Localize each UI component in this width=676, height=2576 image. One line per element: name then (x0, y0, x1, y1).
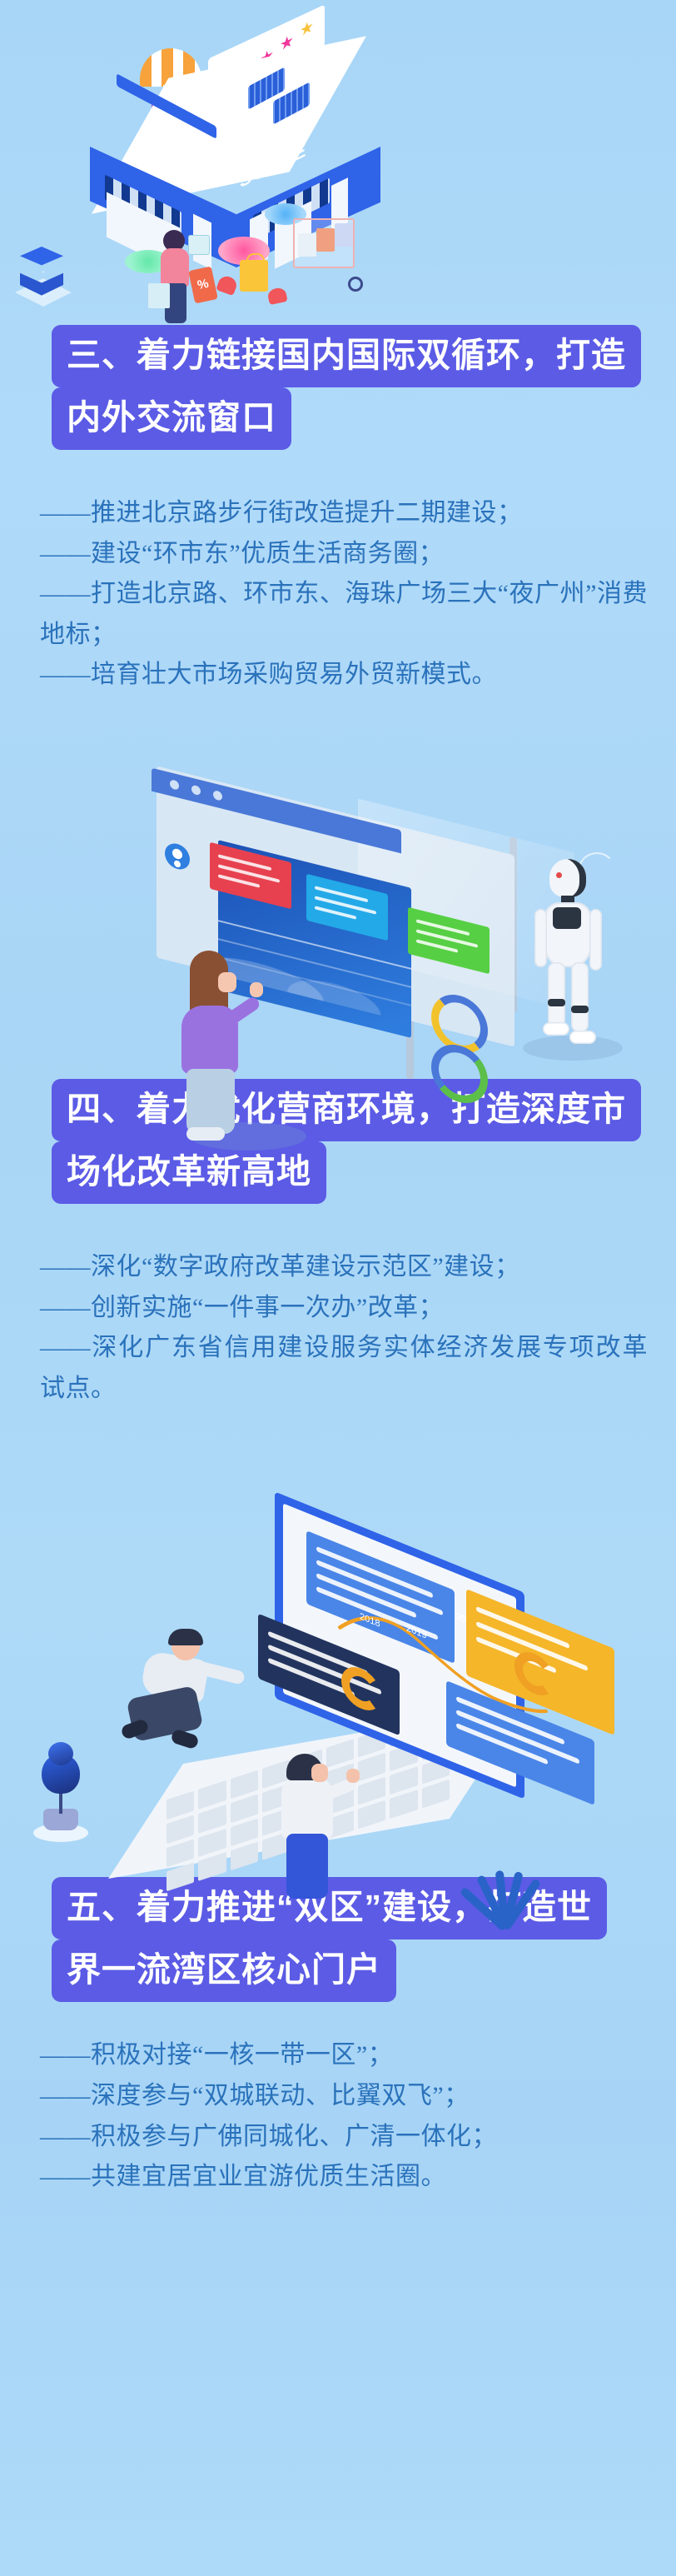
heading-line: 界一流湾区核心门户 (52, 1939, 396, 2002)
section-four: 四、着力优化营商环境，打造深度市 场化改革新高地 ——深化“数字政府改革建设示范… (0, 746, 676, 1409)
section-three-body: ——推进北京路步行街改造提升二期建设； ——建设“环市东”优质生活商务圈； ——… (0, 493, 676, 696)
woman-shoe (186, 1127, 225, 1141)
robot-knee (571, 1006, 589, 1013)
woman-hand (250, 982, 263, 997)
laptop-teamwork-analytics-illustration: 2018 2019 2020 2021 (0, 1460, 676, 1877)
section-five: 2018 2019 2020 2021 (0, 1460, 676, 2197)
discount-tag-icon: % (188, 267, 218, 304)
man-shoe (170, 1729, 200, 1750)
robot-foot (569, 1031, 596, 1044)
body-line: ——积极参与广佛同城化、广清一体化； (40, 2117, 648, 2158)
body-line: ——推进北京路步行街改造提升二期建设； (40, 493, 648, 534)
shopper-torso (161, 248, 189, 287)
robot-arm (534, 909, 547, 967)
body-line: ——深度参与“双城联动、比翼双飞”； (40, 2076, 648, 2117)
robot-arm (589, 909, 602, 971)
digital-dashboard-robot-illustration (0, 746, 676, 1079)
heading-line: 四、着力优化营商环境，打造深度市 (52, 1079, 641, 1141)
window-dot (170, 779, 179, 791)
body-line: ——积极对接“一核一带一区”； (40, 2035, 648, 2076)
section-four-body: ——深化“数字政府改革建设示范区”建设； ——创新实施“一件事一次办”改革； —… (0, 1247, 676, 1409)
man-face (311, 1764, 328, 1782)
heading-line: 内外交流窗口 (52, 387, 291, 450)
infographic-page: ★ ★ ★ ★ ★ STORE (0, 0, 676, 2576)
section-three: ★ ★ ★ ★ ★ STORE (0, 0, 676, 696)
man-reaching-figure (125, 1632, 233, 1765)
section-three-headings: 三、着力链接国内国际双循环，打造 内外交流窗口 (0, 325, 676, 450)
shopping-bag-icon (148, 283, 170, 308)
robot-chest-panel (553, 907, 581, 929)
woman-figure (171, 951, 263, 1141)
yellow-shopping-bag-icon (240, 260, 268, 292)
man-legs (286, 1834, 328, 1899)
isometric-store-shopping-illustration: ★ ★ ★ ★ ★ STORE (0, 0, 676, 325)
robot-leg (548, 962, 565, 1027)
woman-face (218, 972, 236, 992)
man-torso (281, 1777, 333, 1839)
robot-knee (548, 999, 565, 1006)
body-line: ——建设“环市东”优质生活商务圈； (40, 534, 648, 575)
body-line: ——打造北京路、环市东、海珠广场三大“夜广州”消费地标； (40, 574, 648, 655)
section-four-headings: 四、着力优化营商环境，打造深度市 场化改革新高地 (0, 1079, 676, 1204)
body-line: ——创新实施“一件事一次办”改革； (40, 1288, 648, 1329)
gift-box-icon (188, 235, 210, 255)
heading-line: 三、着力链接国内国际双循环，打造 (52, 325, 641, 387)
palm-plant-decoration (450, 1837, 574, 1929)
robot-eye (556, 872, 562, 878)
shopping-cart-icon (293, 218, 355, 268)
robot-leg (571, 962, 589, 1032)
heart-icon (266, 287, 287, 305)
heading-line: 场化改革新高地 (52, 1141, 326, 1204)
body-line: ——共建宜居宜业宜游优质生活圈。 (40, 2157, 648, 2198)
blue-gift-box-icon (15, 247, 72, 298)
robot-head (549, 859, 586, 897)
robot-foot (543, 1022, 569, 1036)
body-line: ——深化“数字政府改革建设示范区”建设； (40, 1247, 648, 1288)
man-hand (346, 1769, 360, 1783)
woman-legs (186, 1069, 235, 1134)
body-line: ——深化广东省信用建设服务实体经济发展专项改革试点。 (40, 1328, 648, 1409)
heart-icon (216, 274, 239, 296)
man-hair (168, 1629, 203, 1645)
body-line: ——培育壮大市场采购贸易外贸新模式。 (40, 655, 648, 696)
potted-plant-icon (33, 1754, 88, 1845)
window-dot (191, 785, 201, 796)
humanoid-robot-figure (533, 859, 604, 1047)
section-five-body: ——积极对接“一核一带一区”； ——深度参与“双城联动、比翼双飞”； ——积极参… (0, 2035, 676, 2197)
window-dot (213, 790, 222, 801)
man-standing-figure (266, 1754, 358, 1904)
cart-wheel (348, 277, 363, 292)
